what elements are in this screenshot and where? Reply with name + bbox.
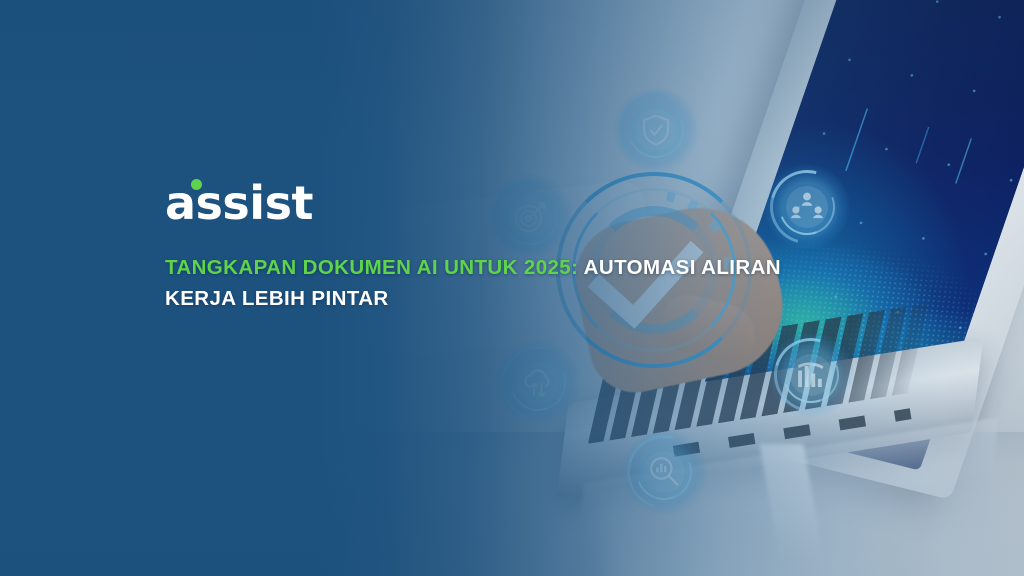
assist-logo[interactable]: assist: [165, 180, 313, 226]
page-title: TANGKAPAN DOKUMEN AI UNTUK 2025: AUTOMAS…: [165, 252, 845, 314]
logo-dot-icon: [191, 179, 202, 190]
promo-banner: assist TANGKAPAN DOKUMEN AI UNTUK 2025: …: [0, 0, 1024, 576]
hero-content: assist TANGKAPAN DOKUMEN AI UNTUK 2025: …: [165, 180, 845, 314]
headline-accent-text: TANGKAPAN DOKUMEN AI UNTUK 2025:: [165, 256, 578, 279]
logo-wordmark: assist: [165, 180, 313, 226]
